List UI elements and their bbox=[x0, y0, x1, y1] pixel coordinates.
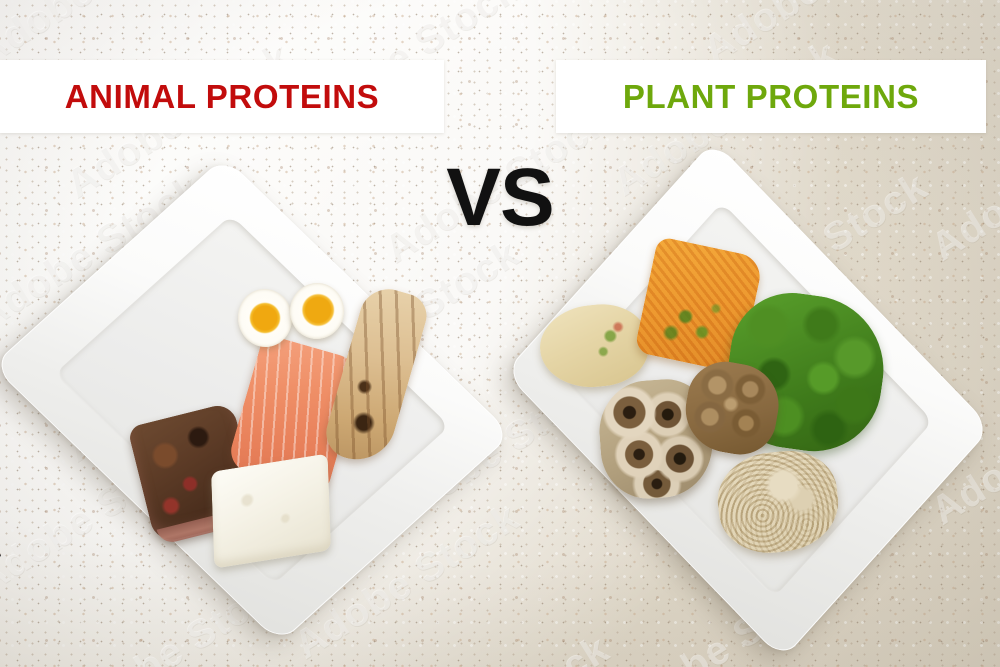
plant-proteins-label: PLANT PROTEINS bbox=[623, 78, 919, 116]
animal-proteins-label: ANIMAL PROTEINS bbox=[65, 78, 380, 116]
plant-proteins-banner: PLANT PROTEINS bbox=[556, 60, 986, 133]
stock-credit-text: Adobe Stock | #108235560 bbox=[0, 462, 2, 661]
photo-canvas: Adobe StockAdobe StockAdobe StockAdobe S… bbox=[0, 0, 1000, 667]
versus-label: VS bbox=[0, 157, 1000, 239]
animal-proteins-banner: ANIMAL PROTEINS bbox=[0, 60, 444, 133]
